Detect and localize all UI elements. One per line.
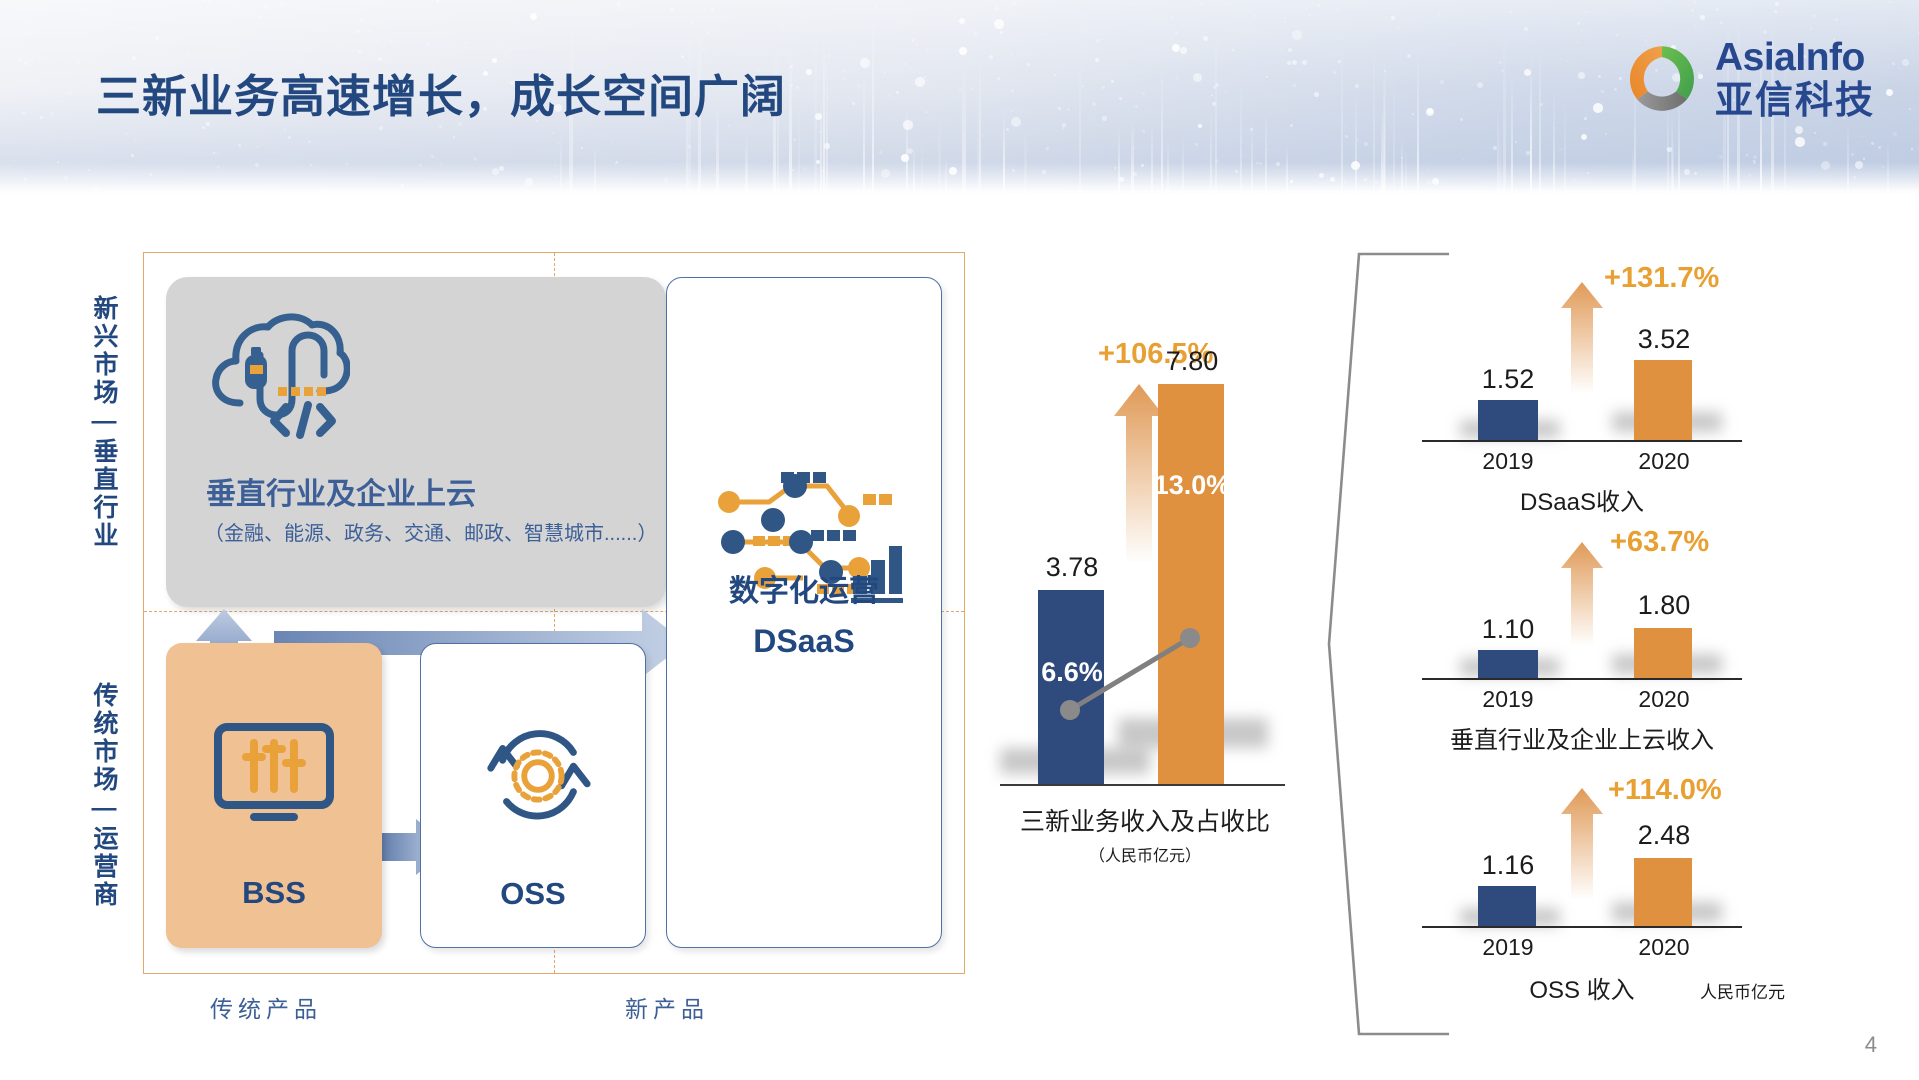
chart-oss-title: OSS 收入 <box>1422 970 1742 1005</box>
chart-vertical-cloud-growth: +63.7% <box>1610 526 1709 559</box>
bar-2019[interactable] <box>1478 400 1538 440</box>
chart-dsaas-baseline <box>1422 440 1742 442</box>
cell-vertical-cloud[interactable]: 垂直行业及企业上云 （金融、能源、政务、交通、邮政、智慧城市......） <box>166 277 666 607</box>
logo-name-en: AsiaInfo <box>1715 38 1875 77</box>
cell-vertical-cloud-subtitle: （金融、能源、政务、交通、邮政、智慧城市......） <box>204 517 657 546</box>
logo-wordmark: AsiaInfo 亚信科技 <box>1715 38 1875 120</box>
x-axis-label-left: 传统产品 <box>210 990 322 1024</box>
bar-2020[interactable] <box>1634 360 1692 440</box>
bar-2020[interactable] <box>1634 628 1692 678</box>
bar-2020-value: 2.48 <box>1624 820 1704 851</box>
bar-2020-value: 7.80 <box>1150 346 1234 377</box>
bar-2019-value: 1.16 <box>1468 850 1548 881</box>
chart-dsaas-growth: +131.7% <box>1604 262 1719 295</box>
page-number: 4 <box>1865 1032 1877 1058</box>
bar-2019-value: 3.78 <box>1030 552 1114 583</box>
bar-2019-value: 1.10 <box>1468 614 1548 645</box>
chart-vertical-cloud-revenue: +63.7% 1.10 1.80 2019 2020 垂直行业及企业上云收入 <box>1412 532 1832 752</box>
cell-dsaas-label-en: DSaaS <box>667 623 941 660</box>
tick-2019: 2019 <box>1468 686 1548 713</box>
cloud-usb-code-icon <box>200 303 350 450</box>
y-axis-label-bottom: 传统市场—运营商 <box>88 650 122 940</box>
chart-vertical-cloud-baseline <box>1422 678 1742 680</box>
cell-bss[interactable]: BSS <box>166 643 382 948</box>
growth-arrow-icon <box>1560 542 1604 646</box>
cell-vertical-cloud-title: 垂直行业及企业上云 <box>206 469 476 513</box>
bar-2019-value: 1.52 <box>1468 364 1548 395</box>
asiainfo-logo: AsiaInfo 亚信科技 <box>1623 38 1875 120</box>
slide-root: 三新业务高速增长，成长空间广阔 <box>0 0 1919 1080</box>
tick-2019: 2019 <box>1468 934 1548 961</box>
cell-dsaas[interactable]: 数字化运营 DSaaS <box>666 277 942 948</box>
page-title: 三新业务高速增长，成长空间广阔 <box>96 60 786 125</box>
chart-vertical-cloud-title: 垂直行业及企业上云收入 <box>1422 720 1742 755</box>
monitor-sliders-icon <box>210 719 338 836</box>
cell-oss[interactable]: OSS <box>420 643 646 948</box>
growth-arrow-icon <box>1560 788 1604 900</box>
cell-bss-label: BSS <box>166 875 382 911</box>
bar-2020-value: 3.52 <box>1624 324 1704 355</box>
tick-2020: 2020 <box>1624 686 1704 713</box>
header-fade <box>0 162 1919 196</box>
chart-dsaas-revenue: +131.7% 1.52 3.52 2019 2020 DSaaS收入 <box>1412 272 1832 492</box>
bar-2019[interactable] <box>1478 650 1538 678</box>
chart-dsaas-title: DSaaS收入 <box>1422 482 1742 517</box>
chart-oss-revenue: +114.0% 1.16 2.48 2019 2020 OSS 收入 人民币亿元 <box>1412 782 1832 1012</box>
chart-main-baseline <box>1000 784 1285 786</box>
asiainfo-ring-icon <box>1623 40 1701 118</box>
logo-name-cn: 亚信科技 <box>1715 82 1875 120</box>
chart-main-revenue: +106.5% 3.78 6.6% 7.80 13.0% 三新业务 <box>990 370 1340 870</box>
cell-dsaas-label-cn: 数字化运营 <box>667 566 941 610</box>
growth-arrow-icon <box>1560 282 1604 394</box>
chart-oss-baseline <box>1422 926 1742 928</box>
product-market-matrix: 垂直行业及企业上云 （金融、能源、政务、交通、邮政、智慧城市......） <box>143 252 965 974</box>
bar-2020-value: 1.80 <box>1624 590 1704 621</box>
bar-2020[interactable] <box>1634 858 1692 926</box>
tick-2020: 2020 <box>1624 448 1704 475</box>
tick-2020: 2020 <box>1624 934 1704 961</box>
tick-2019: 2019 <box>1468 448 1548 475</box>
gear-refresh-icon <box>479 716 597 841</box>
y-axis-label-top: 新兴市场—垂直行业 <box>88 262 122 582</box>
chart-oss-unit-note: 人民币亿元 <box>1700 978 1785 1003</box>
cell-oss-label: OSS <box>421 876 645 912</box>
bar-2020-pct: 13.0% <box>1146 470 1238 501</box>
slide-header: 三新业务高速增长，成长空间广阔 <box>0 0 1919 196</box>
bar-2020[interactable] <box>1158 384 1224 784</box>
chart-main-title: 三新业务收入及占收比 <box>980 802 1310 838</box>
x-axis-label-right: 新产品 <box>625 990 709 1024</box>
bar-2019-pct: 6.6% <box>1030 657 1114 688</box>
chart-main-subtitle: （人民币亿元） <box>980 842 1310 866</box>
chart-oss-growth: +114.0% <box>1608 774 1722 807</box>
bar-2019[interactable] <box>1478 886 1536 926</box>
